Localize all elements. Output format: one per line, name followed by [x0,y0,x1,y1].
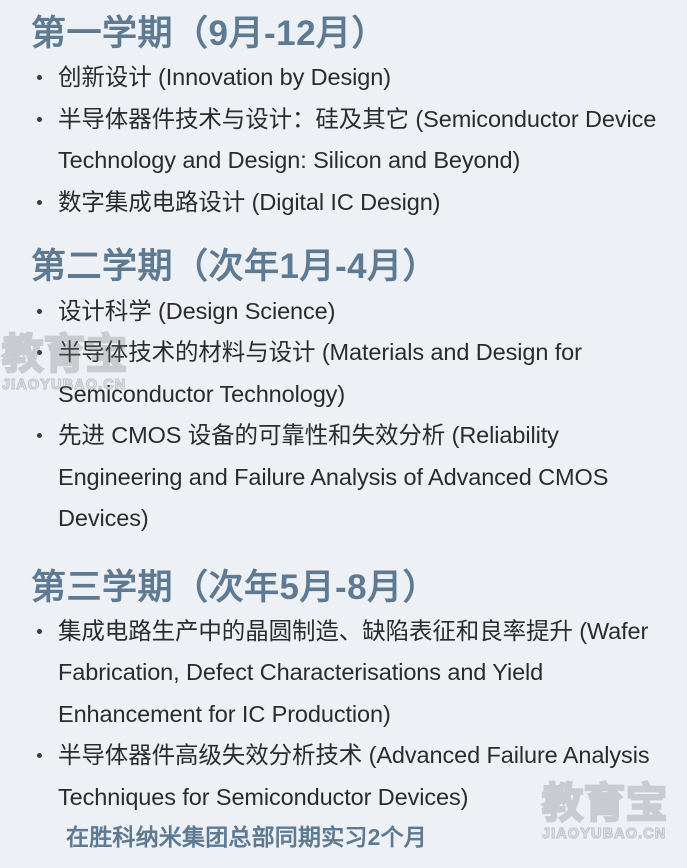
course-item: 创新设计 (Innovation by Design) [30,57,679,99]
bullet-icon [37,433,42,438]
course-item: 半导体器件技术与设计：硅及其它 (Semiconductor Device Te… [30,99,679,182]
term-block-2: 第二学期（次年1月-4月） 设计科学 (Design Science) 半导体技… [22,247,679,539]
course-label: 半导体技术的材料与设计 (Materials and Design for Se… [58,339,582,407]
course-label: 设计科学 (Design Science) [58,298,335,324]
bullet-icon [37,117,42,122]
term-2-course-list: 设计科学 (Design Science) 半导体技术的材料与设计 (Mater… [22,291,679,540]
course-label: 创新设计 (Innovation by Design) [58,64,391,90]
internship-note: 在胜科纳米集团总部同期实习2个月 [66,818,679,856]
term-2-heading: 第二学期（次年1月-4月） [31,247,679,287]
course-label: 先进 CMOS 设备的可靠性和失效分析 (Reliability Enginee… [58,422,608,531]
term-3-course-list: 集成电路生产中的晶圆制造、缺陷表征和良率提升 (Wafer Fabricatio… [22,611,679,819]
term-block-3: 第三学期（次年5月-8月） 集成电路生产中的晶圆制造、缺陷表征和良率提升 (Wa… [22,568,679,857]
term-1-course-list: 创新设计 (Innovation by Design) 半导体器件技术与设计：硅… [22,57,679,223]
bullet-icon [37,350,42,355]
course-item: 设计科学 (Design Science) [30,291,679,333]
term-1-heading: 第一学期（9月-12月） [31,14,679,54]
course-schedule-page: 教育宝 JIAOYUBAO.CN 教育宝 JIAOYUBAO.CN 第一学期（9… [0,0,687,868]
course-label: 半导体器件高级失效分析技术 (Advanced Failure Analysis… [58,742,649,810]
course-item: 半导体器件高级失效分析技术 (Advanced Failure Analysis… [30,735,679,818]
bullet-icon [37,629,42,634]
content-area: 第一学期（9月-12月） 创新设计 (Innovation by Design)… [22,14,679,856]
bullet-icon [37,753,42,758]
course-item: 先进 CMOS 设备的可靠性和失效分析 (Reliability Enginee… [30,415,679,540]
course-label: 集成电路生产中的晶圆制造、缺陷表征和良率提升 (Wafer Fabricatio… [58,618,648,727]
bullet-icon [37,309,42,314]
term-block-1: 第一学期（9月-12月） 创新设计 (Innovation by Design)… [22,14,679,223]
bullet-icon [37,200,42,205]
course-item: 数字集成电路设计 (Digital IC Design) [30,182,679,224]
course-label: 半导体器件技术与设计：硅及其它 (Semiconductor Device Te… [58,106,656,174]
bullet-icon [37,75,42,80]
term-3-heading: 第三学期（次年5月-8月） [31,568,679,608]
course-label: 数字集成电路设计 (Digital IC Design) [58,189,440,215]
course-item: 集成电路生产中的晶圆制造、缺陷表征和良率提升 (Wafer Fabricatio… [30,611,679,736]
course-item: 半导体技术的材料与设计 (Materials and Design for Se… [30,332,679,415]
